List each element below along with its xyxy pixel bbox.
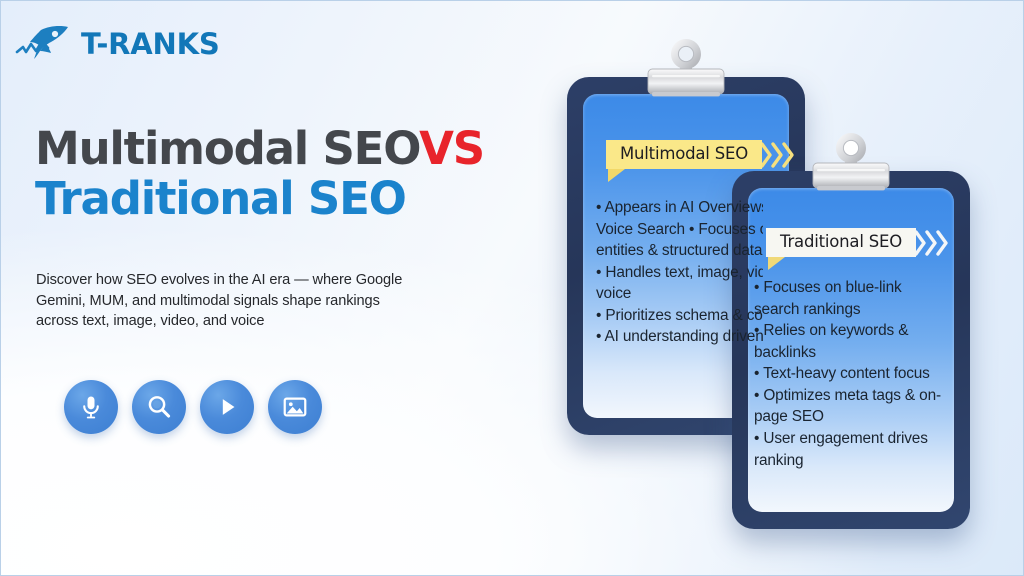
brand-logo[interactable]: T-RANKS — [15, 23, 220, 65]
headline-multimodal: Multimodal SEO — [35, 122, 419, 175]
infographic-canvas: T-RANKS Multimodal SEOVS Traditional SEO… — [0, 0, 1024, 576]
binder-clip-icon — [805, 127, 897, 201]
search-magnifier-icon — [145, 393, 173, 421]
clipboard-label-text: Multimodal SEO — [606, 140, 762, 169]
clipboard-bullet-list-traditional: • Focuses on blue-link search rankings •… — [754, 277, 950, 471]
clipboard-label-text: Traditional SEO — [766, 228, 916, 257]
modality-icon-row — [64, 380, 322, 434]
clipboard-label-multimodal: Multimodal SEO — [606, 140, 795, 169]
image-picture-icon — [281, 393, 309, 421]
bullet-item: • Focuses on blue-link search rankings — [754, 277, 950, 320]
modality-image[interactable] — [268, 380, 322, 434]
clipboard-traditional: Traditional SEO • Focuses on blue-link s… — [732, 171, 970, 529]
chevron-right-triple-icon — [915, 229, 949, 257]
bullet-item: • User engagement drives ranking — [754, 428, 950, 471]
page-title: Multimodal SEOVS Traditional SEO — [35, 124, 555, 223]
modality-search[interactable] — [132, 380, 186, 434]
page-subtitle: Discover how SEO evolves in the AI era —… — [36, 270, 424, 332]
brand-wordmark: T-RANKS — [81, 30, 220, 59]
clipboard-label-traditional: Traditional SEO — [766, 228, 949, 257]
microphone-icon — [77, 393, 105, 421]
chevron-right-triple-icon — [761, 141, 795, 169]
headline-vs: VS — [419, 122, 484, 175]
modality-video[interactable] — [200, 380, 254, 434]
play-video-icon — [213, 393, 241, 421]
binder-clip-icon — [640, 33, 732, 107]
bullet-item: • Text-heavy content focus — [754, 363, 950, 385]
modality-voice[interactable] — [64, 380, 118, 434]
bullet-item: • Optimizes meta tags & on-page SEO — [754, 385, 950, 428]
headline-line-1: Multimodal SEOVS — [35, 124, 555, 174]
headline-line-2: Traditional SEO — [35, 174, 555, 224]
bullet-item: • Relies on keywords & backlinks — [754, 320, 950, 363]
rocket-growth-chart-icon — [15, 23, 77, 65]
